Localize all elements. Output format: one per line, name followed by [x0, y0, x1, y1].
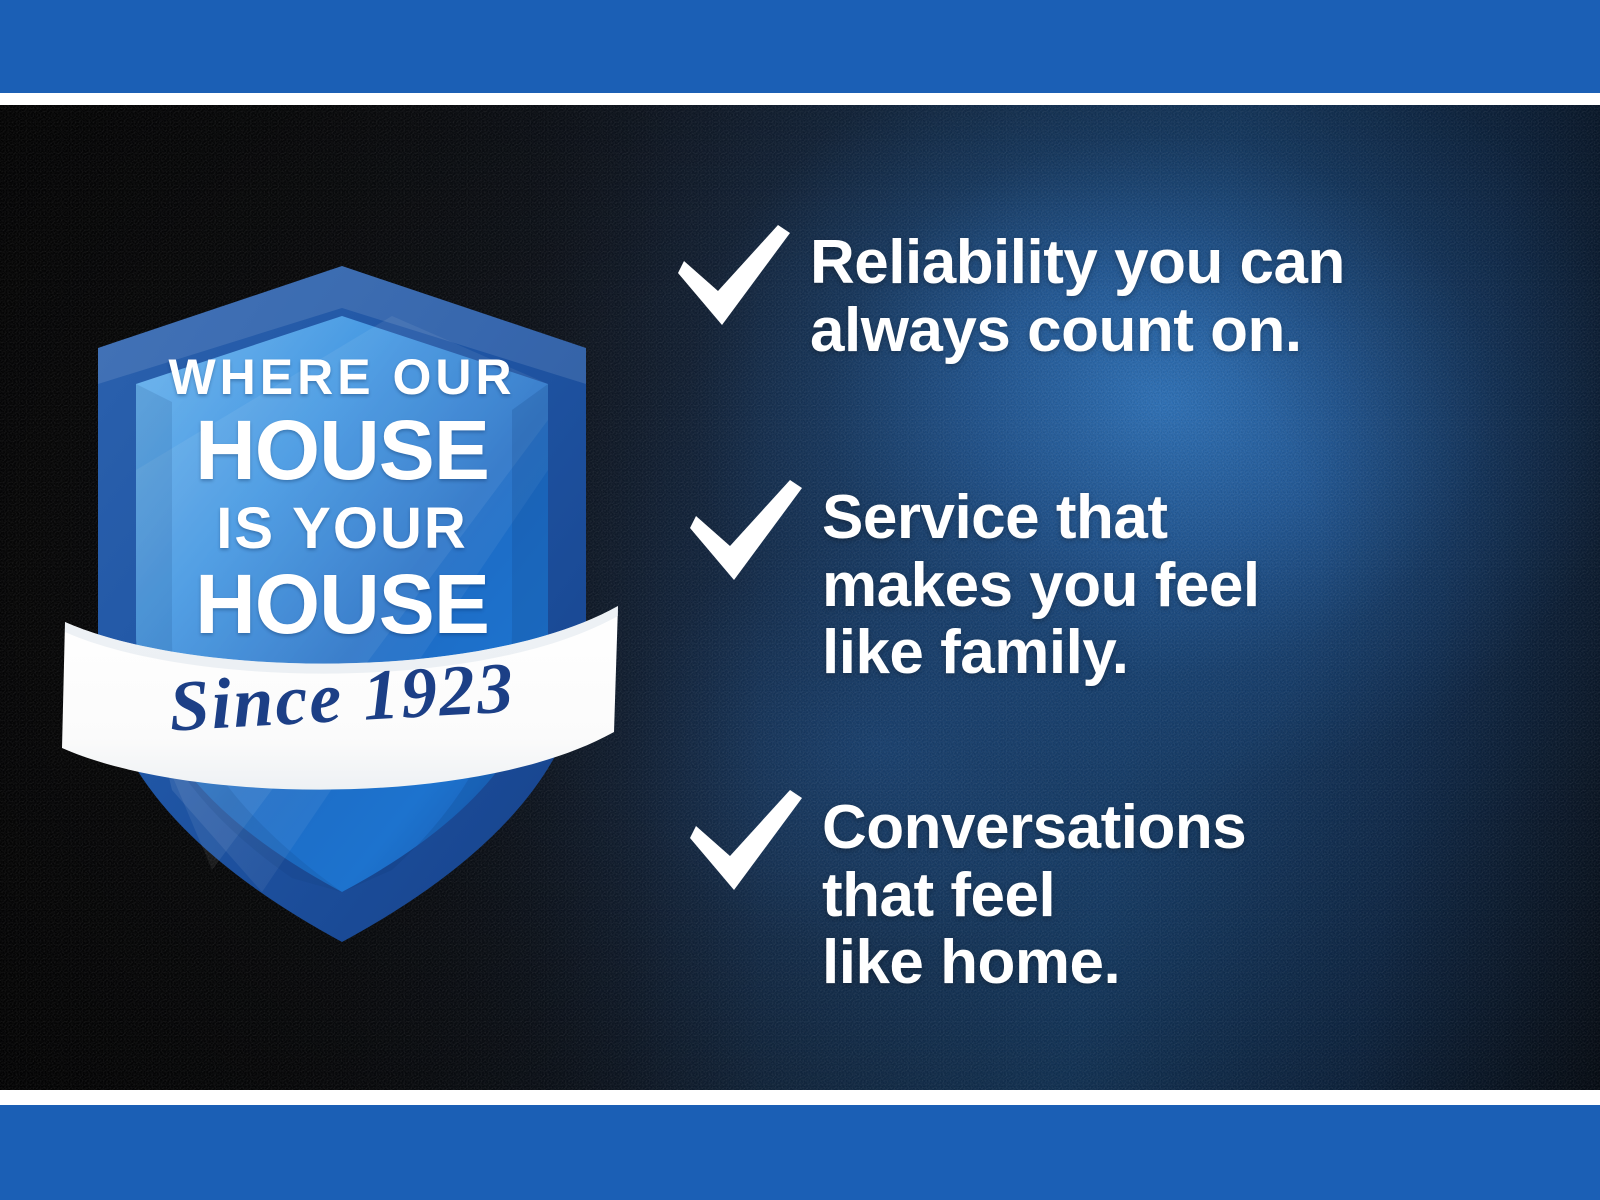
- benefit-text-conversations: Conversations that feel like home.: [822, 780, 1246, 997]
- benefits-list: Reliability you can always count on. Ser…: [670, 105, 1550, 1090]
- benefit-text-service: Service that makes you feel like family.: [822, 470, 1260, 687]
- benefit-item-conversations: Conversations that feel like home.: [682, 780, 1246, 997]
- shield-logo: WHERE OUR HOUSE IS YOUR HOUSE Since 1923: [62, 170, 622, 970]
- promo-poster: WHERE OUR HOUSE IS YOUR HOUSE Since 1923…: [0, 0, 1600, 1200]
- benefit-item-reliability: Reliability you can always count on.: [670, 215, 1345, 364]
- benefit-line: always count on.: [810, 297, 1345, 365]
- checkmark-icon: [682, 780, 812, 900]
- benefit-item-service: Service that makes you feel like family.: [682, 470, 1260, 687]
- bottom-brand-bar: [0, 1105, 1600, 1200]
- top-brand-bar: [0, 0, 1600, 93]
- benefit-line: like family.: [822, 619, 1260, 687]
- shield-icon: [62, 170, 622, 970]
- benefit-text-reliability: Reliability you can always count on.: [810, 215, 1345, 364]
- benefit-line: like home.: [822, 929, 1246, 997]
- benefit-line: that feel: [822, 862, 1246, 930]
- benefit-line: Service that: [822, 484, 1260, 552]
- benefit-line: makes you feel: [822, 552, 1260, 620]
- checkmark-icon: [682, 470, 812, 590]
- benefit-line: Conversations: [822, 794, 1246, 862]
- benefit-line: Reliability you can: [810, 229, 1345, 297]
- checkmark-icon: [670, 215, 800, 335]
